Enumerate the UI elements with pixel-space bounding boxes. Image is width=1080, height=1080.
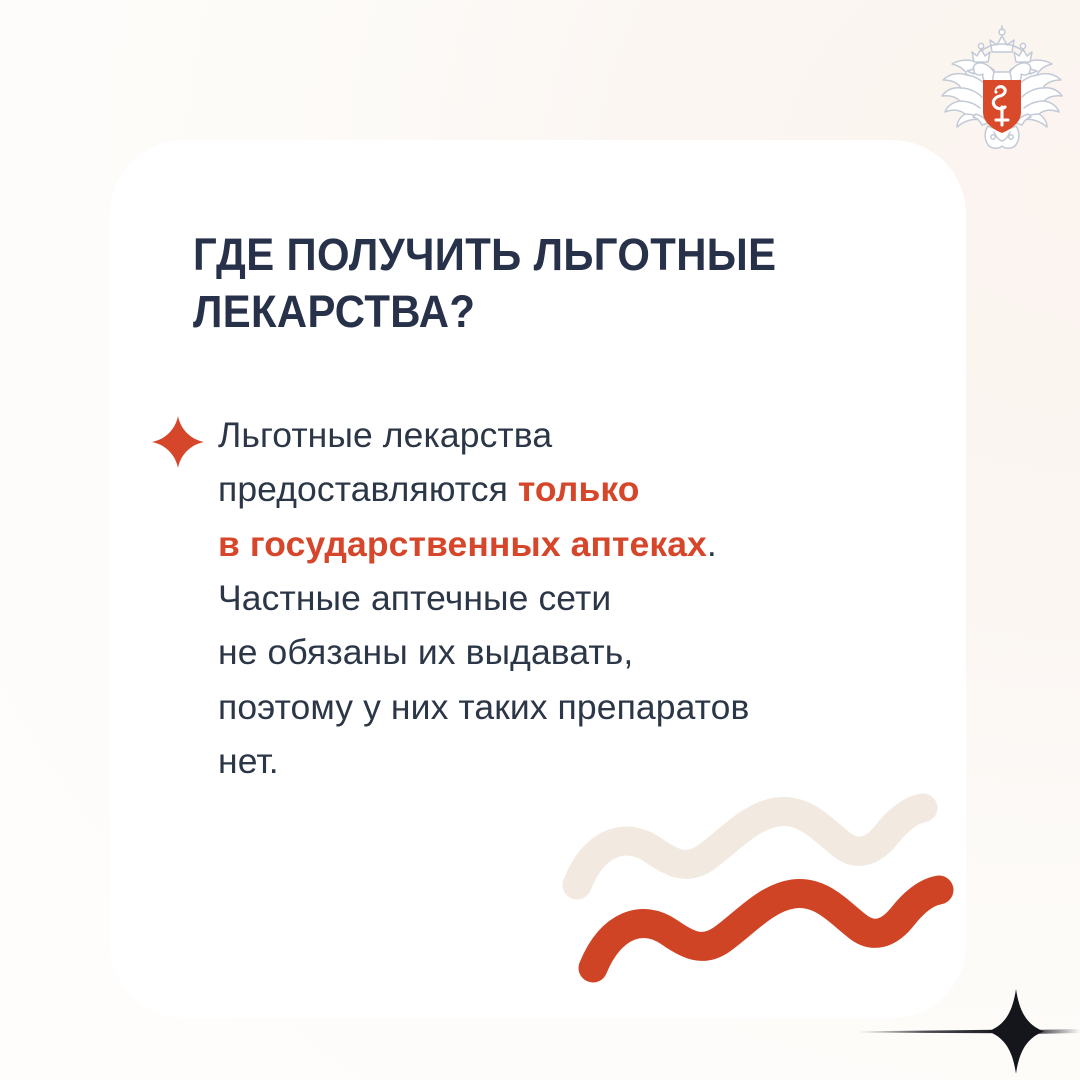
- page-title-line-1: ЛЕКАРСТВА?: [193, 283, 788, 340]
- bullet-item: Льготные лекарствапредоставляются только…: [150, 408, 960, 788]
- emphasized-text: в государственных аптеках: [218, 524, 707, 564]
- plain-text: Частные аптечные сети: [218, 578, 611, 618]
- page-title-line-0: ГДЕ ПОЛУЧИТЬ ЛЬГОТНЫЕ: [193, 226, 788, 283]
- bullet-text: Льготные лекарствапредоставляются только…: [218, 408, 908, 788]
- four-point-star-bullet-icon: [150, 414, 206, 470]
- emphasized-text: только: [518, 469, 640, 509]
- bullet-text-line-2: в государственных аптеках.: [218, 517, 908, 571]
- bullet-text-line-0: Льготные лекарства: [218, 408, 908, 462]
- plain-text: предоставляются: [218, 469, 518, 509]
- wave-red: [593, 890, 939, 968]
- plain-text: не обязаны их выдавать,: [218, 632, 633, 672]
- bullet-text-line-3: Частные аптечные сети: [218, 571, 908, 625]
- wave-decoration: [565, 800, 965, 980]
- page-title: ГДЕ ПОЛУЧИТЬ ЛЬГОТНЫЕЛЕКАРСТВА?: [193, 226, 788, 340]
- plain-text: Льготные лекарства: [218, 415, 552, 455]
- bullet-text-line-5: поэтому у них таких препаратов: [218, 680, 908, 734]
- bullet-text-line-6: нет.: [218, 734, 908, 788]
- bullet-text-line-1: предоставляются только: [218, 462, 908, 516]
- wave-light: [577, 808, 923, 885]
- plain-text: .: [707, 524, 717, 564]
- content-card: ГДЕ ПОЛУЧИТЬ ЛЬГОТНЫЕЛЕКАРСТВА? Льготные…: [110, 140, 966, 1018]
- plain-text: поэтому у них таких препаратов: [218, 687, 749, 727]
- plain-text: нет.: [218, 741, 279, 781]
- ministry-of-health-emblem: [936, 22, 1068, 152]
- bullet-text-line-4: не обязаны их выдавать,: [218, 625, 908, 679]
- poster-canvas: ГДЕ ПОЛУЧИТЬ ЛЬГОТНЫЕЛЕКАРСТВА? Льготные…: [0, 0, 1080, 1080]
